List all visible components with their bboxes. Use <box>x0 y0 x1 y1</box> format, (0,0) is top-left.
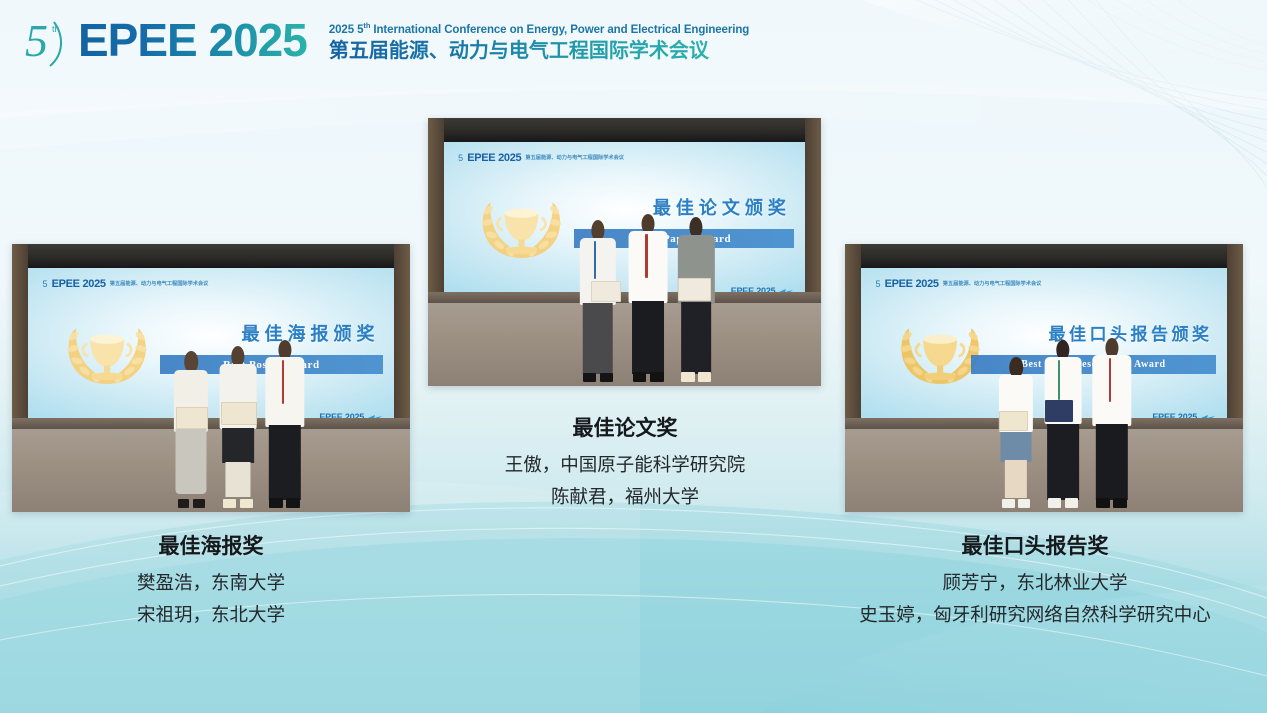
epee-acronym: EPEE 2025 <box>78 17 307 67</box>
award-title: 最佳口头报告奖 <box>810 530 1260 562</box>
screen-logo-cn: 第五届能源、动力与电气工程国际学术会议 <box>943 280 1042 287</box>
award-photo-best-poster: 5 EPEE 2025 第五届能源、动力与电气工程国际学术会议 <box>12 244 410 512</box>
laurel-trophy-icon <box>887 313 993 390</box>
stage-floor <box>12 429 410 512</box>
award-recipient <box>1042 340 1084 506</box>
screen-award-title-cn: 最佳论文颁奖 <box>653 194 791 220</box>
stage-front-edge <box>12 418 410 429</box>
laurel-trophy-icon <box>469 187 574 264</box>
screen-epee-logo: 5 EPEE 2025 第五届能源、动力与电气工程国际学术会议 <box>458 152 624 164</box>
award-photo-best-paper: 5 EPEE 2025 第五届能源、动力与电气工程国际学术会议 <box>428 118 821 386</box>
caption-best-paper: 最佳论文奖 王傲，中国原子能科学研究院 陈献君，福州大学 <box>408 412 842 514</box>
award-title: 最佳海报奖 <box>12 530 410 562</box>
award-presenter <box>1090 338 1134 507</box>
stage-floor <box>428 303 821 386</box>
award-presenter <box>626 214 669 380</box>
screen-logo-cn: 第五届能源、动力与电气工程国际学术会议 <box>525 154 624 161</box>
screen-logo-cn: 第五届能源、动力与电气工程国际学术会议 <box>110 280 209 287</box>
conference-title-cn: 第五届能源、动力与电气工程国际学术会议 <box>329 39 749 62</box>
stage-scene: 5 EPEE 2025 第五届能源、动力与电气工程国际学术会议 <box>428 118 821 386</box>
stage-front-edge <box>428 292 821 303</box>
led-screen: 5 EPEE 2025 第五届能源、动力与电气工程国际学术会议 <box>28 268 394 429</box>
slide-root: 5 th EPEE 2025 2025 5th International Co… <box>0 0 1267 713</box>
award-recipient <box>577 220 618 381</box>
ceiling <box>12 244 410 268</box>
conference-title-en: 2025 5th International Conference on Ene… <box>329 22 749 36</box>
laurel-trophy-icon <box>54 313 160 390</box>
award-photo-best-oral: 5 EPEE 2025 第五届能源、动力与电气工程国际学术会议 <box>845 244 1243 512</box>
screen-logo-acronym: EPEE 2025 <box>52 278 106 290</box>
svg-text:5: 5 <box>25 15 48 66</box>
screen-logo-numeral: 5 <box>458 153 463 163</box>
epee-5th-numeral-icon: 5 th <box>24 14 68 70</box>
award-winner: 宋祖玥，东北大学 <box>12 600 410 632</box>
stage-scene: 5 EPEE 2025 第五届能源、动力与电气工程国际学术会议 <box>12 244 410 512</box>
led-screen: 5 EPEE 2025 第五届能源、动力与电气工程国际学术会议 <box>444 142 806 303</box>
screen-logo-numeral: 5 <box>43 279 48 289</box>
award-winner: 顾芳宁，东北林业大学 <box>810 568 1260 600</box>
award-recipient <box>996 357 1036 507</box>
award-winner: 陈献君，福州大学 <box>408 482 842 514</box>
award-winner: 王傲，中国原子能科学研究院 <box>408 450 842 482</box>
award-recipient <box>171 351 211 506</box>
screen-epee-logo: 5 EPEE 2025 第五届能源、动力与电气工程国际学术会议 <box>876 278 1042 290</box>
award-title: 最佳论文奖 <box>408 412 842 444</box>
caption-best-poster: 最佳海报奖 樊盈浩，东南大学 宋祖玥，东北大学 <box>12 530 410 632</box>
conference-header: 5 th EPEE 2025 2025 5th International Co… <box>24 14 749 70</box>
ceiling <box>428 118 821 142</box>
screen-logo-acronym: EPEE 2025 <box>885 278 939 290</box>
screen-epee-logo: 5 EPEE 2025 第五届能源、动力与电气工程国际学术会议 <box>43 278 209 290</box>
screen-logo-numeral: 5 <box>876 279 881 289</box>
caption-best-oral: 最佳口头报告奖 顾芳宁，东北林业大学 史玉婷，匈牙利研究网络自然科学研究中心 <box>810 530 1260 632</box>
award-recipient <box>676 217 717 380</box>
screen-logo-acronym: EPEE 2025 <box>467 152 521 164</box>
ceiling <box>845 244 1243 268</box>
award-recipient <box>217 346 259 507</box>
award-winner: 史玉婷，匈牙利研究网络自然科学研究中心 <box>810 600 1260 632</box>
award-winner: 樊盈浩，东南大学 <box>12 568 410 600</box>
stage-scene: 5 EPEE 2025 第五届能源、动力与电气工程国际学术会议 <box>845 244 1243 512</box>
award-presenter <box>263 340 307 506</box>
